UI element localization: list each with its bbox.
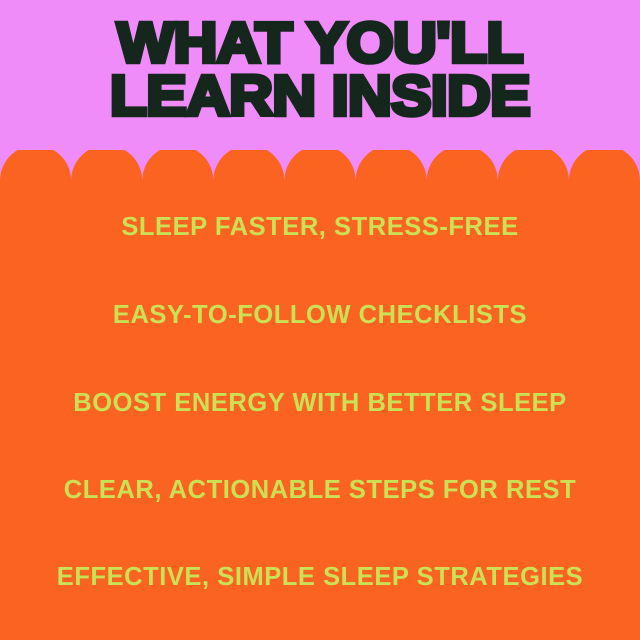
- list-item: BOOST ENERGY WITH BETTER SLEEP: [0, 388, 640, 418]
- list-item: SLEEP FASTER, STRESS-FREE: [0, 212, 640, 242]
- list-item: EFFECTIVE, SIMPLE SLEEP STRATEGIES: [0, 562, 640, 592]
- list-item: EASY-TO-FOLLOW CHECKLISTS: [0, 300, 640, 330]
- page-title-line-1: WHAT YOU'LL: [0, 17, 640, 70]
- header-band: WHAT YOU'LL LEARN INSIDE: [0, 0, 640, 150]
- list-item: CLEAR, ACTIONABLE STEPS FOR REST: [0, 475, 640, 505]
- promo-poster: WHAT YOU'LL LEARN INSIDE SLEEP FASTER, S…: [0, 0, 640, 640]
- page-title-line-2: LEARN INSIDE: [0, 70, 640, 123]
- page-title: WHAT YOU'LL LEARN INSIDE: [0, 17, 640, 123]
